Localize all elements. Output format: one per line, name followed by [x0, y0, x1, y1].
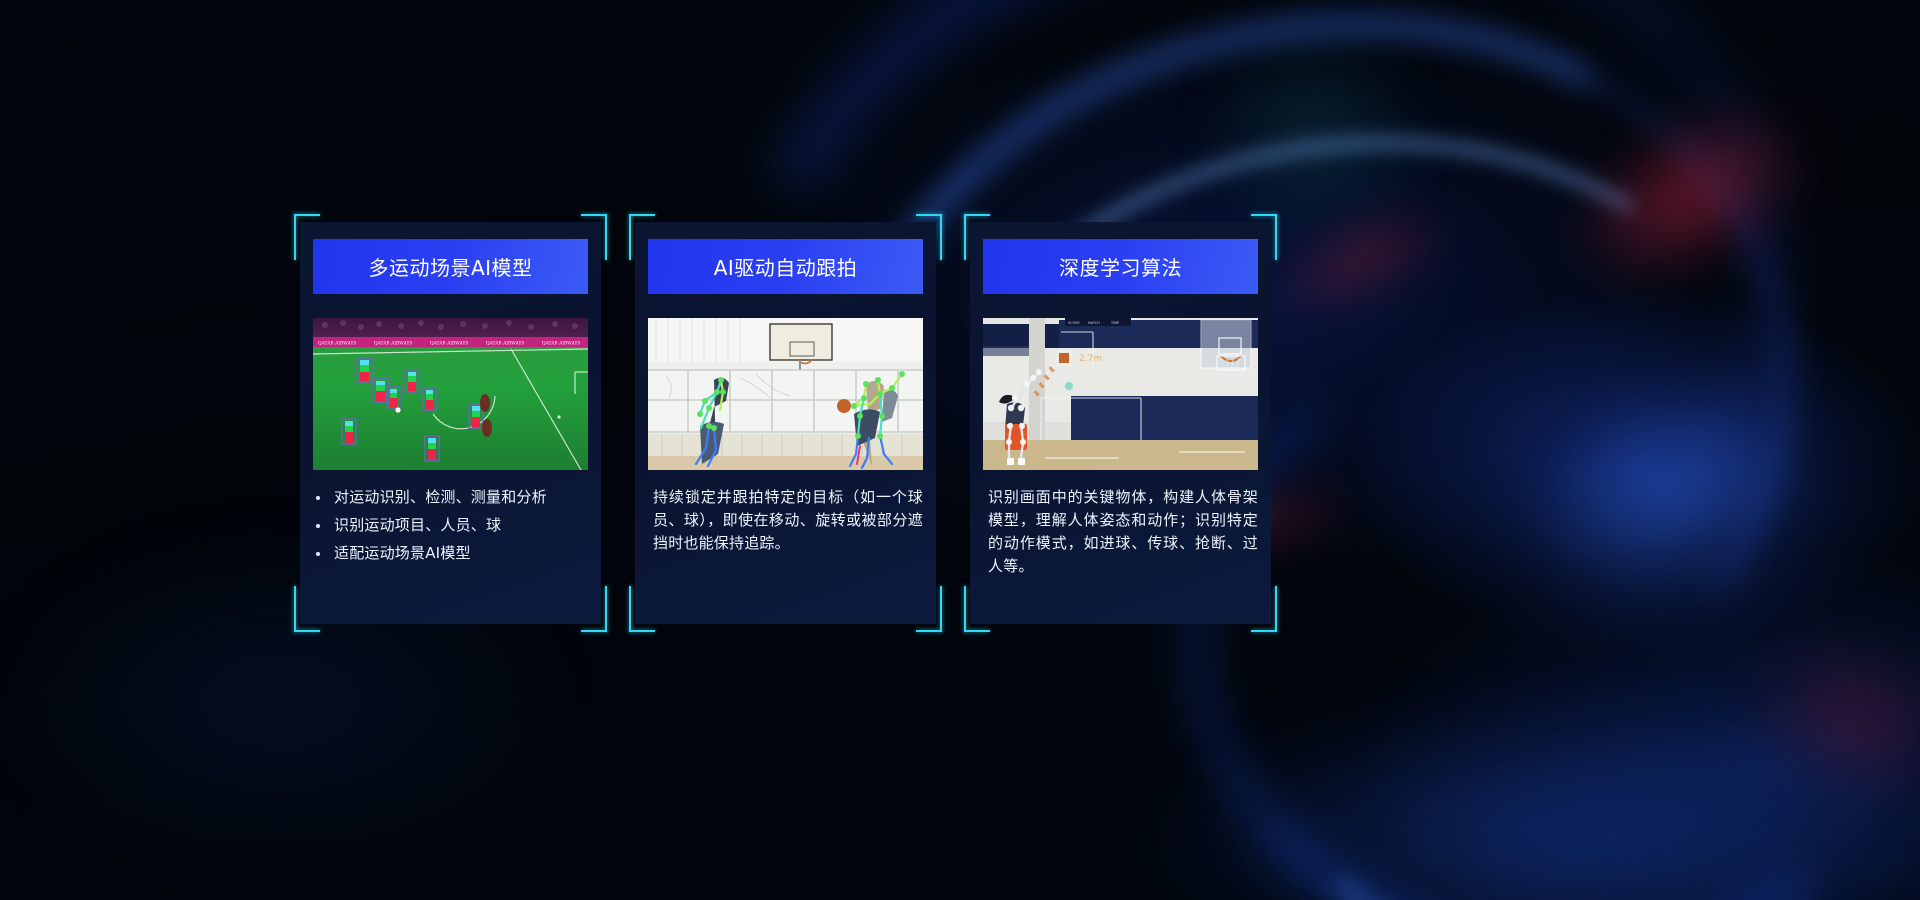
card-body: 多运动场景AI模型: [300, 222, 601, 624]
soccer-detection-illustration: QATAR AIRWAYS QATAR AIRWAYS QATAR AIRWAY…: [313, 318, 588, 470]
feature-bullet-list: 对运动识别、检测、测量和分析 识别运动项目、人员、球 适配运动场景AI模型: [312, 486, 592, 565]
basketball-shot-trajectory-thumbnail: SCOREMATCHTIME: [983, 318, 1258, 470]
card-body-text: 持续锁定并跟拍特定的目标（如一个球员、球），即使在移动、旋转或被部分遮挡时也能保…: [653, 486, 923, 555]
background-red-streak-2: [1250, 178, 1469, 342]
card-body: 深度学习算法 SCOREMATCHTIME: [970, 222, 1271, 624]
background-lower-blue-glow: [1150, 700, 1920, 900]
list-item: 识别运动项目、人员、球: [312, 514, 592, 537]
svg-text:QATAR AIRWAYS: QATAR AIRWAYS: [318, 342, 356, 347]
card-title: 深度学习算法: [1059, 252, 1182, 281]
background-red-streak-4: [1726, 610, 1920, 830]
card-body-text: 对运动识别、检测、测量和分析 识别运动项目、人员、球 适配运动场景AI模型: [312, 486, 592, 570]
distance-annotation: 2.7m: [1079, 354, 1102, 364]
svg-text:TIME: TIME: [1110, 321, 1119, 325]
svg-text:QATAR AIRWAYS: QATAR AIRWAYS: [542, 342, 580, 347]
card-title: 多运动场景AI模型: [368, 252, 532, 281]
svg-text:QATAR AIRWAYS: QATAR AIRWAYS: [430, 342, 468, 347]
svg-text:QATAR AIRWAYS: QATAR AIRWAYS: [486, 342, 524, 347]
feature-card-deep-learning-algorithm[interactable]: 深度学习算法 SCOREMATCHTIME: [964, 214, 1277, 632]
list-item: 适配运动场景AI模型: [312, 542, 592, 565]
card-header-banner: 深度学习算法: [983, 239, 1258, 294]
background-blue-highlight: [1491, 335, 1848, 644]
svg-text:SCORE: SCORE: [1068, 321, 1080, 325]
svg-text:MATCH: MATCH: [1088, 321, 1100, 325]
card-description: 持续锁定并跟拍特定的目标（如一个球员、球），即使在移动、旋转或被部分遮挡时也能保…: [653, 486, 923, 555]
list-item: 对运动识别、检测、测量和分析: [312, 486, 592, 509]
card-header-banner: AI驱动自动跟拍: [648, 239, 923, 294]
feature-card-row: 多运动场景AI模型: [294, 214, 1278, 632]
card-title: AI驱动自动跟拍: [714, 252, 858, 281]
feature-card-ai-auto-tracking[interactable]: AI驱动自动跟拍: [629, 214, 942, 632]
background-motion-arc-5: [1243, 448, 1920, 900]
basketball-pose-tracking-thumbnail: [648, 318, 923, 470]
card-body-text: 识别画面中的关键物体，构建人体骨架模型，理解人体姿态和动作；识别特定的动作模式，…: [988, 486, 1258, 578]
card-description: 识别画面中的关键物体，构建人体骨架模型，理解人体姿态和动作；识别特定的动作模式，…: [988, 486, 1258, 578]
card-header-banner: 多运动场景AI模型: [313, 239, 588, 294]
card-body: AI驱动自动跟拍: [635, 222, 936, 624]
presentation-slide: 多运动场景AI模型: [0, 0, 1920, 900]
feature-card-multi-sport-ai-model[interactable]: 多运动场景AI模型: [294, 214, 607, 632]
basketball-pose-illustration: [648, 318, 923, 470]
soccer-field-detection-thumbnail: QATAR AIRWAYS QATAR AIRWAYS QATAR AIRWAY…: [313, 318, 588, 470]
background-red-streak-1: [1540, 68, 1840, 323]
shot-trajectory-illustration: SCOREMATCHTIME: [983, 318, 1258, 470]
svg-text:QATAR AIRWAYS: QATAR AIRWAYS: [374, 342, 412, 347]
